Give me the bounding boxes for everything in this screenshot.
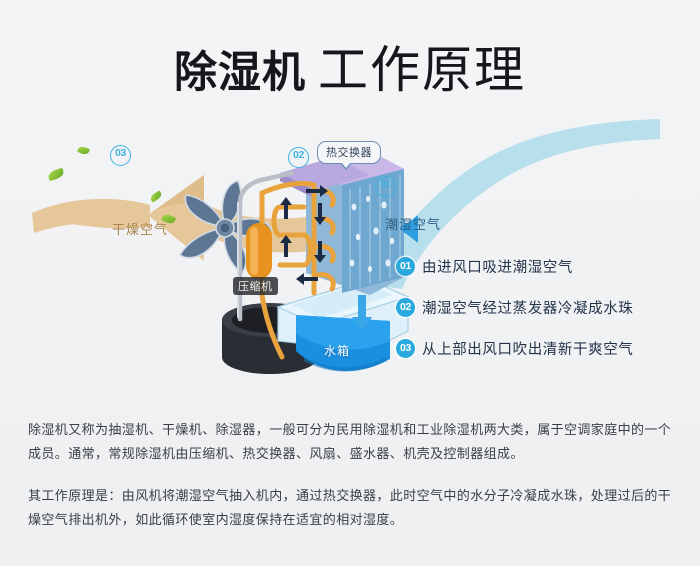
page-root: 除湿机工作原理 [0,0,700,566]
water-tank-label: 水箱 [324,342,350,359]
legend-text-01: 由进风口吸进潮湿空气 [422,256,573,277]
dry-air-badge: 03 [110,143,131,166]
legend-badge-03: 03 [396,339,415,358]
legend-item-02: 02 潮湿空气经过蒸发器冷凝成水珠 [396,297,686,318]
legend-badge-02: 02 [396,298,415,317]
badge-01: 01 [375,176,396,197]
badge-03: 03 [110,145,131,166]
dry-air-label: 干燥空气 [112,219,168,238]
body-paragraph-2: 其工作原理是：由风机将潮湿空气抽入机内，通过热交换器，此时空气中的水分子冷凝成水… [28,484,676,532]
legend-item-03: 03 从上部出风口吹出清新干爽空气 [396,338,686,359]
legend-text-02: 潮湿空气经过蒸发器冷凝成水珠 [422,297,633,318]
page-title-part2: 工作原理 [318,42,526,98]
body-copy: 除湿机又称为抽湿机、干燥机、除湿器，一般可分为民用除湿机和工业除湿机两大类，属于… [28,418,676,532]
humid-air-badge: 01 [375,174,396,197]
legend-text-03: 从上部出风口吹出清新干爽空气 [422,338,633,359]
page-title: 除湿机工作原理 [0,30,700,102]
heat-exchanger-callout: 热交换器 [317,141,381,164]
humid-air-label: 潮湿空气 [385,214,441,233]
heat-exchanger-label: 热交换器 [317,141,381,164]
page-title-part1: 除湿机 [174,49,306,97]
compressor-label: 压缩机 [233,277,278,295]
heat-exchanger-badge: 02 [288,145,309,168]
legend-item-01: 01 由进风口吸进潮湿空气 [396,256,686,277]
legend-list: 01 由进风口吸进潮湿空气 02 潮湿空气经过蒸发器冷凝成水珠 03 从上部出风… [396,256,686,379]
badge-02: 02 [288,147,309,168]
body-paragraph-1: 除湿机又称为抽湿机、干燥机、除湿器，一般可分为民用除湿机和工业除湿机两大类，属于… [28,418,676,466]
legend-badge-01: 01 [396,257,415,276]
